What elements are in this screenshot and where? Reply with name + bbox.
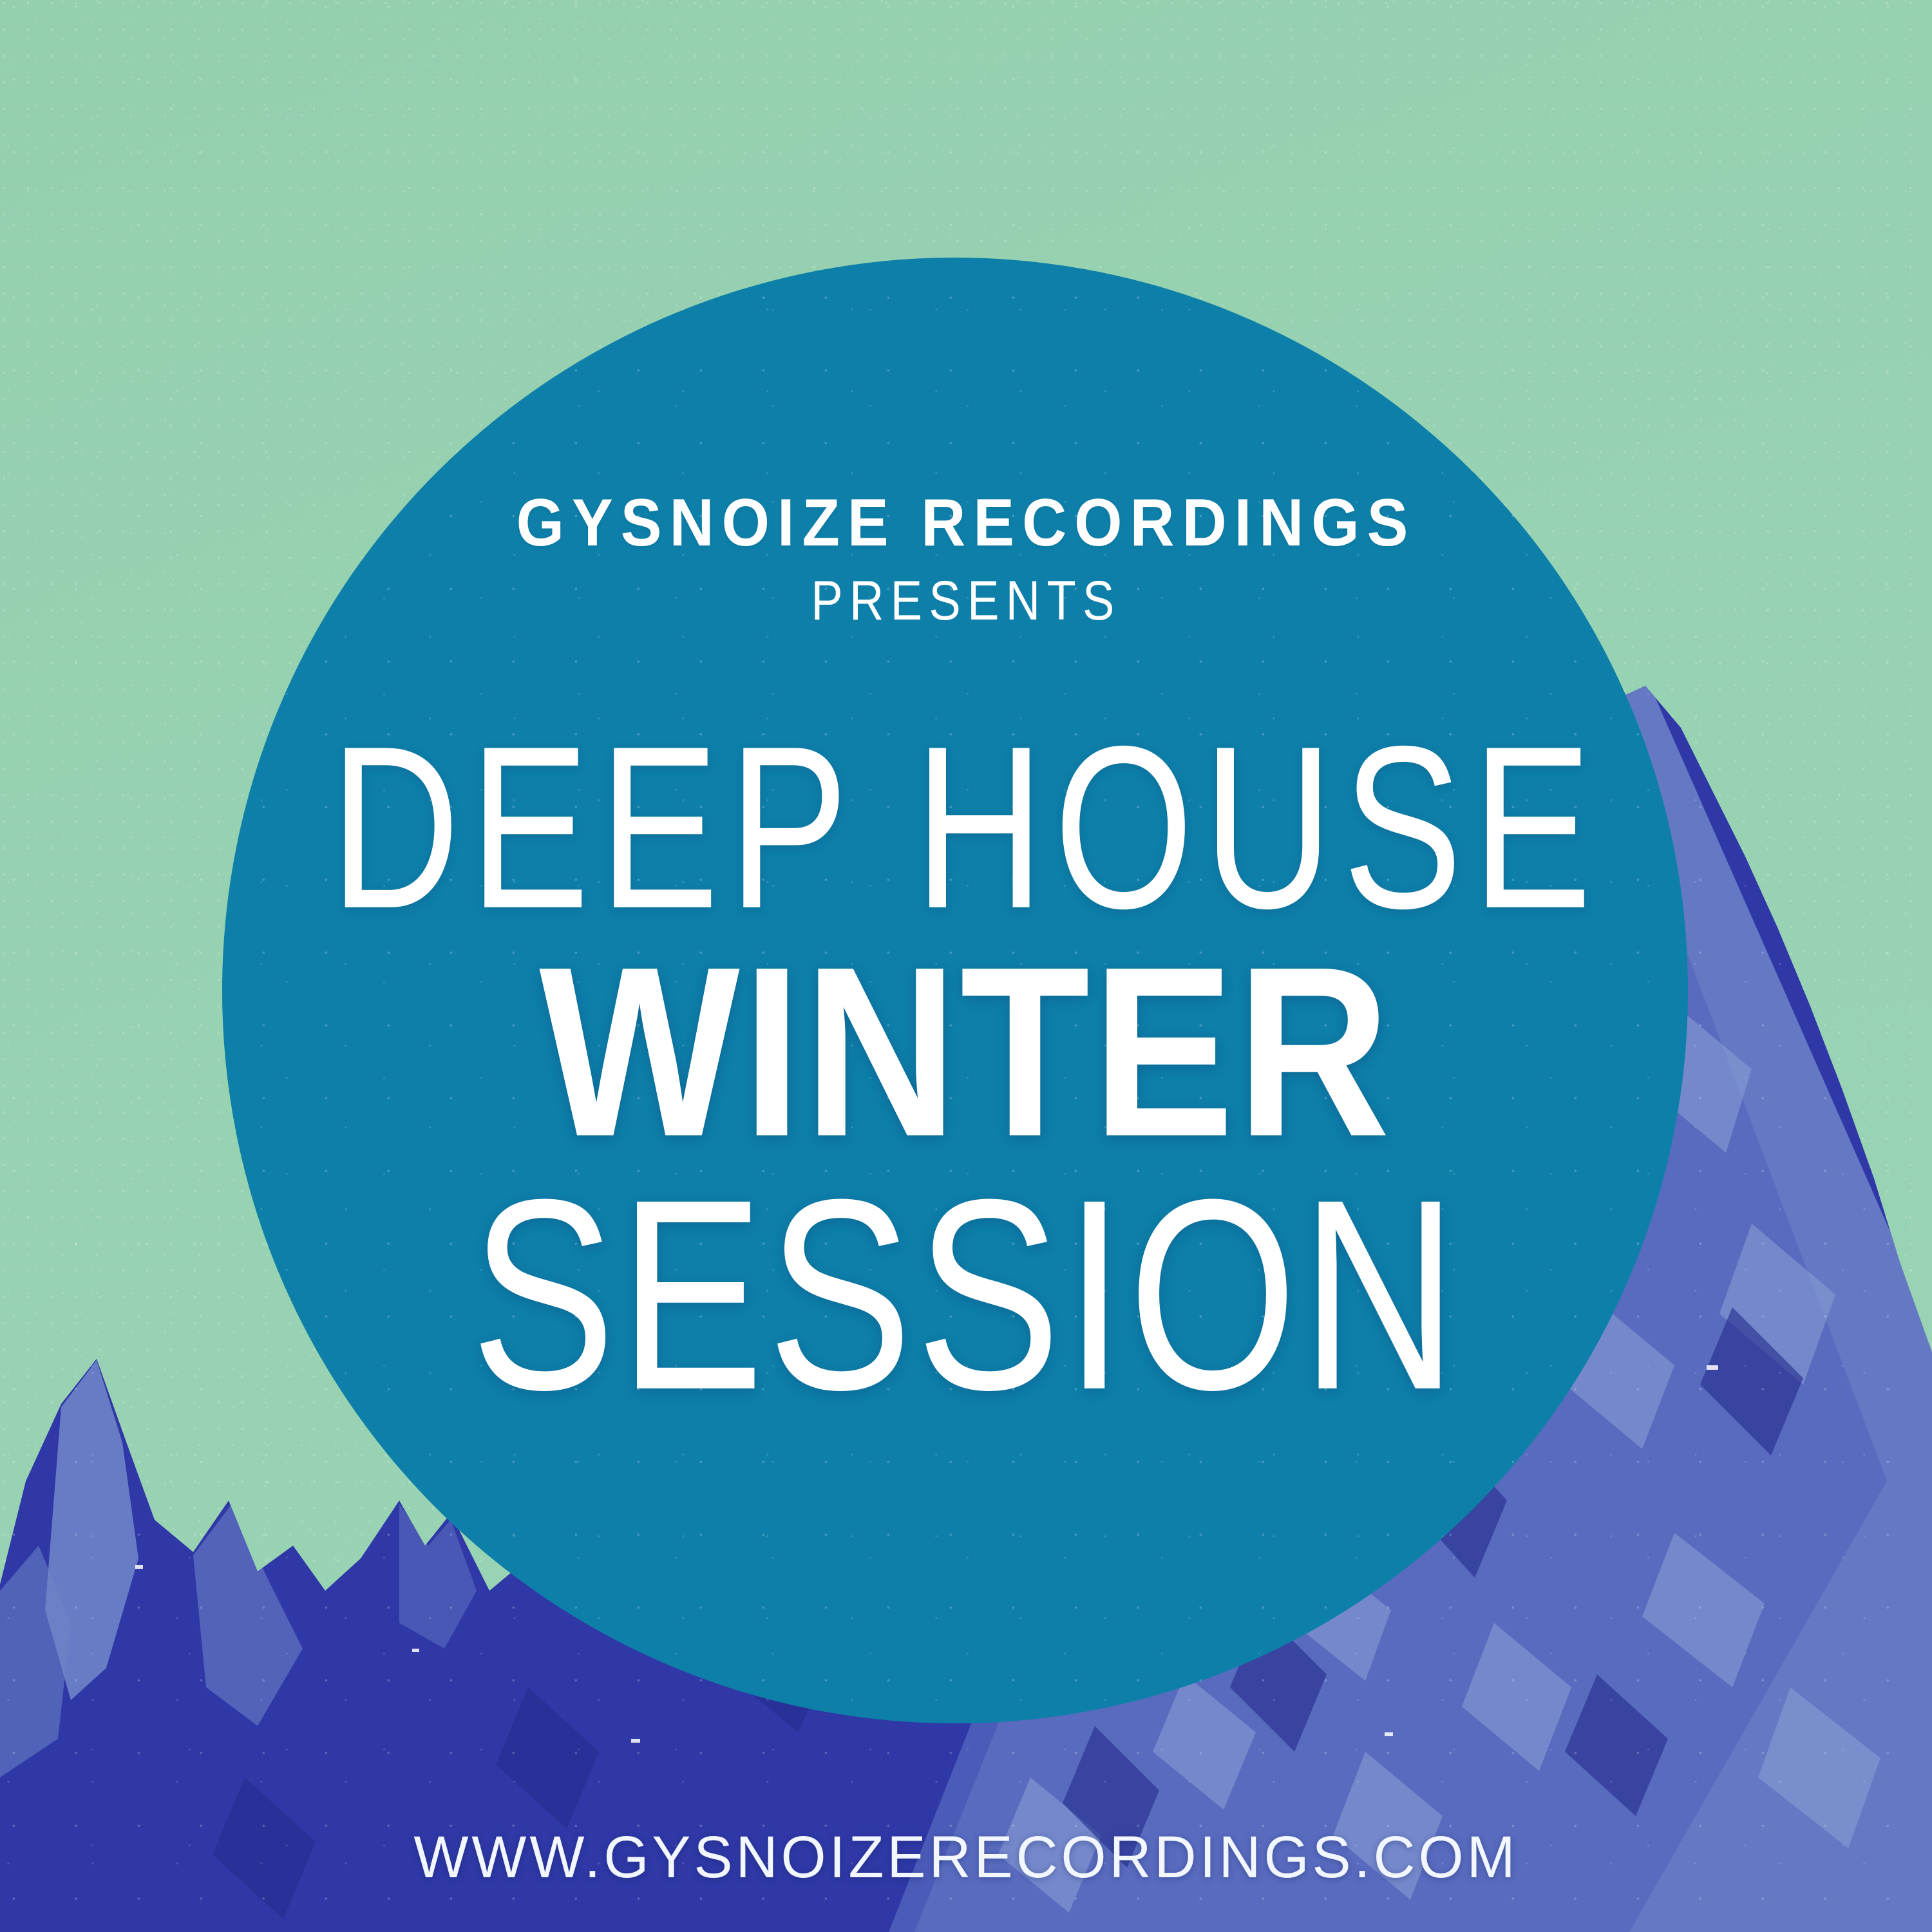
title-line-session: SESSION xyxy=(10,1159,1922,1431)
title-line-deep-house: DEEP HOUSE xyxy=(39,712,1893,943)
album-cover: GYSNOIZE RECORDINGS PRESENTS DEEP HOUSE … xyxy=(0,0,1932,1932)
title-line-winter: WINTER xyxy=(0,931,1932,1173)
footer-website-url: WWW.GYSNOIZERECORDINGS.COM xyxy=(19,1828,1913,1887)
label-brand: GYSNOIZE RECORDINGS xyxy=(77,489,1855,556)
label-presents: PRESENTS xyxy=(135,573,1797,629)
